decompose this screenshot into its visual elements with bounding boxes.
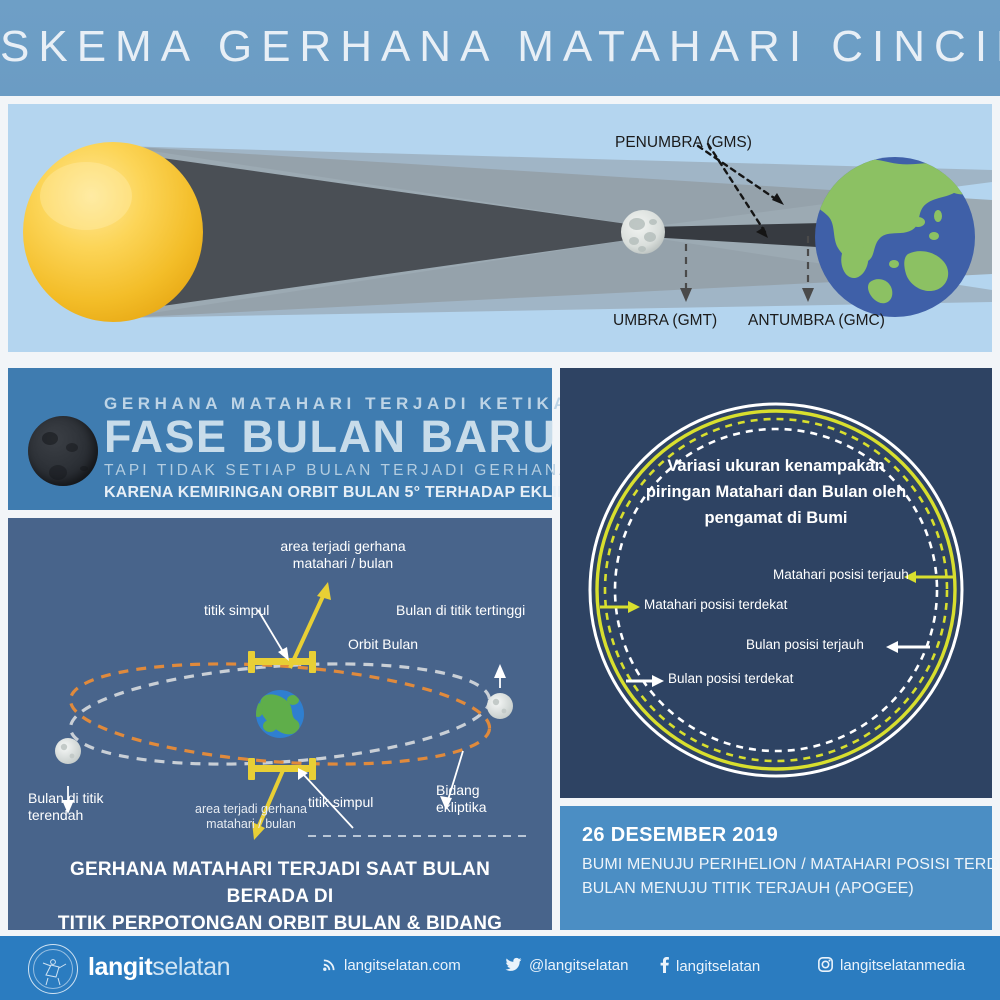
infographic-page: SKEMA GERHANA MATAHARI CINCIN (0, 0, 1000, 1000)
earth-small (253, 690, 304, 738)
event-date-panel: 26 DESEMBER 2019 BUMI MENUJU PERIHELION … (560, 806, 992, 930)
logo-bold: langit (88, 953, 152, 981)
logo-light: selatan (152, 953, 230, 981)
moon-orbit-panel: area terjadi gerhana matahari / bulan ti… (8, 518, 552, 930)
rss-icon (322, 957, 337, 976)
footer-bar: langitselatan langitselatan.com @langits… (0, 936, 1000, 1000)
eclipse-area-arrowhead-top (317, 582, 331, 600)
moon-lowest (55, 738, 81, 764)
social-label-website: langitselatan.com (344, 957, 461, 974)
instagram-icon (818, 957, 833, 976)
new-moon-phase-panel: GERHANA MATAHARI TERJADI KETIKA FASE BUL… (8, 368, 552, 510)
eclipse-area-arrow-top (290, 594, 324, 668)
logo-emblem (29, 945, 77, 993)
orbit-caption: GERHANA MATAHARI TERJADI SAAT BULAN BERA… (32, 856, 528, 930)
arrowhead-moon-farthest (886, 641, 898, 653)
langitselatan-wordmark: langitselatan (88, 953, 230, 982)
label-moon-farthest: Bulan posisi terjauh (746, 637, 864, 652)
apparent-size-panel: Variasi ukuran kenampakan piringan Matah… (560, 368, 992, 798)
page-title: SKEMA GERHANA MATAHARI CINCIN (0, 22, 1000, 72)
label-eclipse-area-bottom: area terjadi gerhana matahari / bulan (186, 802, 316, 832)
label-penumbra: PENUMBRA (GMS) (615, 134, 752, 152)
event-note-apogee: BULAN MENUJU TITIK TERJAUH (APOGEE) (582, 880, 914, 898)
event-note-perihelion: BUMI MENUJU PERIHELION / MATAHARI POSISI… (582, 856, 1000, 874)
eclipse-geometry-diagram: PENUMBRA (GMS) UMBRA (GMT) ANTUMBRA (GMC… (8, 104, 992, 352)
moon (621, 210, 665, 254)
fase-subline: TAPI TIDAK SETIAP BULAN TERJADI GERHANA (104, 462, 540, 480)
langitselatan-logo-mark (28, 944, 78, 994)
label-moon-highest: Bulan di titik tertinggi (396, 602, 525, 619)
new-moon-icon (28, 416, 98, 486)
social-link-twitter[interactable]: @langitselatan (505, 957, 628, 976)
label-node-bottom: titik simpul (308, 794, 373, 811)
social-label-twitter: @langitselatan (529, 957, 628, 974)
label-sun-closest: Matahari posisi terdekat (644, 597, 787, 612)
social-link-website[interactable]: langitselatan.com (322, 957, 461, 976)
fase-note: KARENA KEMIRINGAN ORBIT BULAN 5° TERHADA… (104, 484, 540, 502)
label-eclipse-area-top: area terjadi gerhana matahari / bulan (268, 538, 418, 572)
arrowhead-moon-closest (652, 675, 664, 687)
label-ecliptic-plane: Bidang ekliptika (436, 782, 516, 816)
moon-highest (487, 693, 513, 719)
apparent-size-title: Variasi ukuran kenampakan piringan Matah… (606, 453, 946, 531)
social-label-instagram: langitselatanmedia (840, 957, 965, 974)
label-moon-orbit: Orbit Bulan (348, 636, 418, 653)
label-moon-closest: Bulan posisi terdekat (668, 671, 793, 686)
label-umbra: UMBRA (GMT) (613, 312, 717, 330)
label-moon-lowest: Bulan di titik terendah (28, 790, 138, 824)
sun (23, 142, 203, 322)
event-date: 26 DESEMBER 2019 (582, 824, 778, 847)
social-link-instagram[interactable]: langitselatanmedia (818, 957, 965, 976)
header-band: SKEMA GERHANA MATAHARI CINCIN (0, 0, 1000, 96)
label-node-top: titik simpul (204, 602, 269, 619)
twitter-icon (505, 957, 522, 976)
arrowhead-sun-closest (628, 601, 640, 613)
social-label-facebook: langitselatan (676, 958, 760, 975)
social-link-facebook[interactable]: langitselatan (660, 957, 760, 977)
fase-headline: FASE BULAN BARU (104, 414, 540, 459)
facebook-icon (660, 957, 669, 977)
label-sun-farthest: Matahari posisi terjauh (773, 567, 909, 582)
label-antumbra: ANTUMBRA (GMC) (748, 312, 885, 330)
